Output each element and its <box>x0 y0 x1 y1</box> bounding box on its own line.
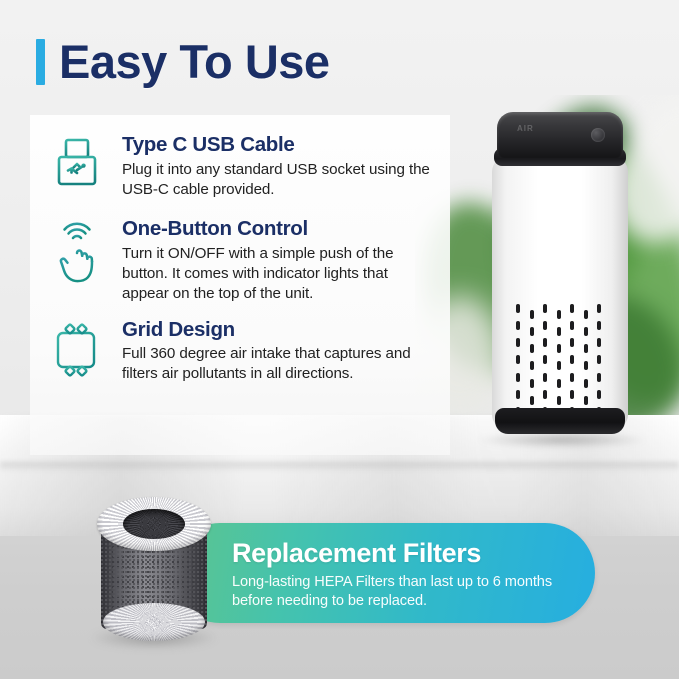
countertop-edge <box>0 462 679 472</box>
vent-dash <box>570 373 574 382</box>
vent-dash <box>516 355 520 364</box>
vent-column <box>570 304 574 416</box>
vent-dash <box>557 361 561 370</box>
feature-text-grid: Grid Design Full 360 degree air intake t… <box>122 318 434 385</box>
hepa-bottom-rim <box>103 603 205 641</box>
vent-dash <box>597 373 601 382</box>
vent-dash <box>543 304 547 313</box>
infographic-page: Easy To Use <box>0 0 679 679</box>
feature-card: Type C USB Cable Plug it into any standa… <box>30 115 450 455</box>
vent-dash <box>543 355 547 364</box>
vent-dash <box>530 310 534 319</box>
vent-dash <box>584 310 588 319</box>
feature-text-button: One-Button Control Turn it ON/OFF with a… <box>122 217 434 304</box>
feature-item-usb: Type C USB Cable Plug it into any standa… <box>46 133 434 203</box>
page-header: Easy To Use <box>36 38 330 85</box>
vent-dash <box>530 344 534 353</box>
vent-dash <box>570 321 574 330</box>
feature-item-grid: Grid Design Full 360 degree air intake t… <box>46 318 434 388</box>
feature-description: Full 360 degree air intake that captures… <box>122 344 434 384</box>
purifier-vent-grid <box>516 304 606 416</box>
vent-dash <box>530 361 534 370</box>
feature-title: Type C USB Cable <box>122 134 434 157</box>
vent-dash <box>570 304 574 313</box>
vent-dash <box>557 379 561 388</box>
page-title: Easy To Use <box>59 38 330 85</box>
vent-column <box>543 304 547 416</box>
banner-description: Long-lasting HEPA Filters than last up t… <box>232 573 555 612</box>
feature-text-usb: Type C USB Cable Plug it into any standa… <box>122 133 434 200</box>
vent-dash <box>597 390 601 399</box>
vent-dash <box>584 344 588 353</box>
feature-item-button: One-Button Control Turn it ON/OFF with a… <box>46 217 434 304</box>
vent-column <box>516 304 520 416</box>
purifier-logo: AIR <box>517 124 534 133</box>
vent-dash <box>530 379 534 388</box>
vent-dash <box>570 355 574 364</box>
vent-dash <box>597 321 601 330</box>
vent-dash <box>543 321 547 330</box>
vent-dash <box>530 396 534 405</box>
hand-tap-icon <box>46 217 108 287</box>
purifier-base <box>495 408 625 434</box>
vent-column <box>557 310 561 422</box>
vent-dash <box>516 390 520 399</box>
accent-bar <box>36 39 45 85</box>
vent-column <box>530 310 534 422</box>
air-purifier-product: AIR <box>492 112 628 442</box>
vent-dash <box>557 327 561 336</box>
vent-dash <box>530 327 534 336</box>
vent-dash <box>570 338 574 347</box>
vent-dash <box>597 338 601 347</box>
feature-description: Plug it into any standard USB socket usi… <box>122 160 434 200</box>
vent-dash <box>543 338 547 347</box>
usb-c-plug-icon <box>46 133 108 203</box>
vent-dash <box>597 355 601 364</box>
vent-column <box>584 310 588 422</box>
vent-dash <box>570 390 574 399</box>
vent-dash <box>543 390 547 399</box>
vent-dash <box>516 304 520 313</box>
power-button-icon[interactable] <box>591 128 605 142</box>
banner-title: Replacement Filters <box>232 539 555 569</box>
vent-dash <box>584 396 588 405</box>
vent-dash <box>584 327 588 336</box>
vent-dash <box>516 338 520 347</box>
replacement-filters-banner: Replacement Filters Long-lasting HEPA Fi… <box>170 523 595 623</box>
vent-column <box>597 304 601 416</box>
vent-dash <box>516 321 520 330</box>
vent-dash <box>557 396 561 405</box>
hepa-top-rim <box>97 497 211 551</box>
vent-dash <box>597 304 601 313</box>
vent-dash <box>584 361 588 370</box>
feature-description: Turn it ON/OFF with a simple push of the… <box>122 244 434 304</box>
vent-dash <box>557 310 561 319</box>
hepa-center-hole <box>123 509 185 539</box>
vent-dash <box>584 379 588 388</box>
grid-mesh-icon <box>46 318 108 388</box>
vent-dash <box>516 373 520 382</box>
vent-dash <box>543 373 547 382</box>
purifier-top-panel: AIR <box>497 112 623 158</box>
feature-title: One-Button Control <box>122 218 434 241</box>
feature-title: Grid Design <box>122 319 434 342</box>
hepa-filter-product <box>97 497 211 645</box>
purifier-body <box>492 156 628 428</box>
vent-dash <box>557 344 561 353</box>
